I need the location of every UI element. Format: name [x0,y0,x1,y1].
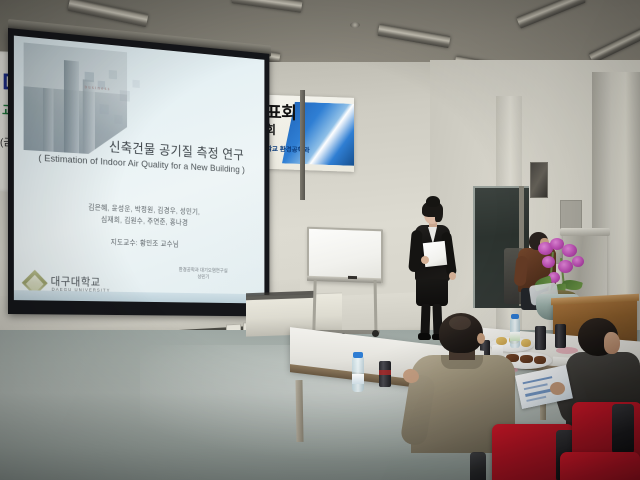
booklet-text-line [526,396,546,402]
orchid-flower [558,260,573,273]
orchid-flower [562,244,577,257]
podium-top [560,228,610,236]
bottle-cap [353,352,363,358]
slide-mosaic-square [120,90,130,101]
presenter-hand [449,272,456,280]
slide-bottom-bar [14,290,264,303]
whiteboard-caster [372,330,379,337]
orchid-flower [572,256,584,267]
tan-jacket-hair-highlight [449,316,471,330]
slide-department: 환경공학과 대기오염연구실 성민기 [151,267,255,283]
reader-hand [550,382,565,395]
slide-mosaic-square [133,80,140,88]
projection-screen: business 신축건물 공기질 측정 연구 ( Estimation of … [8,28,269,320]
slide-mosaic-square [109,70,117,79]
screen-frame: business 신축건물 공기질 측정 연구 ( Estimation of … [8,28,269,316]
slide-mosaic-square [114,115,122,124]
photo-scene: 대 교 (금) 발표회 표회 구대학교 환경공학과 [0,0,640,480]
slide-mosaic-square [85,72,94,83]
food-item [521,339,531,347]
auditorium-seat[interactable] [560,452,640,480]
beverage-can-stripe [379,370,391,375]
tan-jacket-ear [477,333,485,344]
banner-right-pole [300,90,305,200]
slide-mosaic-square [100,104,109,114]
presenter-hair-bun [426,196,440,207]
whiteboard[interactable] [307,227,383,284]
food-item [520,355,533,363]
wall-speaker-icon [530,162,548,198]
seat-armrest [470,452,486,480]
whiteboard-marker[interactable] [348,276,357,279]
reader-face [604,332,620,354]
photo-building [43,88,54,152]
orchid-flower [542,256,555,268]
photo-building [64,60,79,153]
presenter-skirt [416,279,448,306]
presenter-hand [421,256,429,264]
slide-advisor: 지도교수: 황민조 교수님 [22,234,260,251]
presenter-hair-side [435,206,443,222]
bottle-label [352,374,364,384]
beverage-can[interactable] [535,326,546,350]
food-item [534,356,546,364]
booklet-text-line [523,376,553,384]
slide-department-line2: 성민기 [151,274,255,283]
ceiling-downlight [350,22,360,28]
presentation-slide: business 신축건물 공기질 측정 연구 ( Estimation of … [14,36,264,304]
front-table-leg [295,380,303,442]
seat-armrest [612,404,634,454]
